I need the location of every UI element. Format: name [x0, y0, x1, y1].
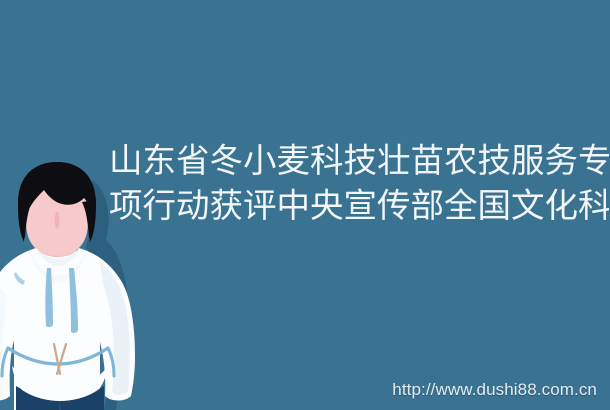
- nose: [55, 212, 60, 229]
- headline-line-2: 项行动获评中央宣传部全国文化科: [109, 184, 609, 229]
- face: [26, 170, 88, 256]
- promo-card: 山东省冬小麦科技壮苗农技服务专 项行动获评中央宣传部全国文化科 http://w…: [0, 0, 610, 410]
- hair-fringe: [18, 162, 96, 238]
- hoodie-hem: [12, 366, 108, 401]
- page-title: 山东省冬小麦科技壮苗农技服务专 项行动获评中央宣传部全国文化科: [109, 139, 609, 229]
- watermark-url: http://www.dushi88.com.cn: [392, 380, 597, 400]
- hoodie: [0, 248, 135, 410]
- neck: [38, 222, 76, 258]
- pants: [16, 386, 104, 410]
- hair-back: [18, 162, 96, 242]
- headline-line-1: 山东省冬小麦科技壮苗农技服务专: [109, 139, 609, 184]
